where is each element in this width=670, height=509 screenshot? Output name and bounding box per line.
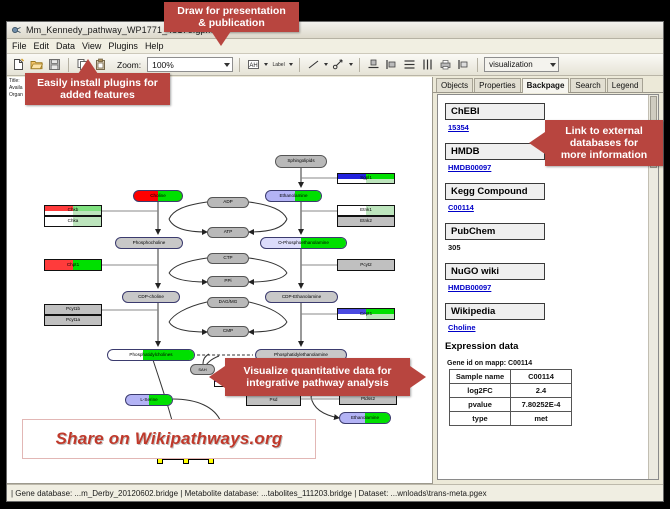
cell-value: 7.80252E-4 (511, 398, 572, 412)
node-label: PPi (224, 279, 231, 284)
node-atp[interactable]: ATP (207, 227, 249, 238)
callout-line-1: Easily install plugins for (37, 77, 158, 89)
tab-objects[interactable]: Objects (436, 78, 473, 92)
node-label: Ethanolamine (279, 194, 307, 199)
node-label: Ethanolamine (351, 416, 379, 421)
label-tool-text: Label (272, 62, 284, 68)
node-choline[interactable]: Choline (133, 190, 183, 202)
text-label-dropdown-icon[interactable] (264, 63, 268, 66)
callout-line-1: Link to external (565, 125, 643, 137)
info-line-organism: Organ (9, 92, 23, 99)
backpage-header-chebi: ChEBI (445, 103, 545, 120)
node-l-serine-left[interactable]: L-Serine (125, 394, 173, 406)
node-label: Sgpl1 (360, 176, 372, 181)
line-tool-icon[interactable] (306, 57, 321, 72)
backpage-link-nugo[interactable]: HMDB00097 (448, 283, 658, 292)
gene-box-pcyt1b[interactable]: Pcyt1b (44, 304, 102, 315)
gene-box-etnk2[interactable]: Etnk2 (337, 216, 395, 227)
node-label: DAG/MG (219, 300, 238, 305)
callout-link-arrow-icon (529, 132, 545, 154)
node-sphingolipids[interactable]: Sphingolipids (275, 155, 327, 168)
node-label: ATP (224, 230, 233, 235)
table-row: type met (450, 412, 572, 426)
open-folder-icon[interactable] (29, 57, 44, 72)
callout-visualize-arrow-icon (209, 366, 225, 388)
distribute-horizontal-icon[interactable] (420, 57, 435, 72)
node-cmp[interactable]: CMP (207, 326, 249, 337)
node-adp[interactable]: ADP (207, 197, 249, 208)
backpage-header-nugo: NuGO wiki (445, 263, 545, 280)
toolbar-separator-5 (477, 58, 478, 72)
cell-value: 2.4 (511, 384, 572, 398)
tab-properties[interactable]: Properties (474, 78, 520, 92)
callout-line-1: Draw for presentation (177, 5, 286, 17)
info-line-availability: Availa (9, 85, 23, 92)
callout-line-3: more information (561, 149, 647, 161)
line-dropdown-icon[interactable] (324, 63, 328, 66)
cell-value: C00114 (511, 370, 572, 384)
title-bar: Mm_Kennedy_pathway_WP1771_45176.gpml (7, 22, 663, 39)
cell-key: type (450, 412, 511, 426)
expression-data-table: Sample name C00114 log2FC 2.4 pvalue 7.8… (449, 369, 572, 426)
gene-box-chpt1[interactable]: Chpt1 (44, 259, 102, 271)
toolbar-separator-1 (68, 58, 69, 72)
callout-visualize-arrow-right-icon (410, 366, 426, 388)
zoom-value: 100% (152, 60, 174, 70)
callout-line-2: added features (60, 89, 135, 101)
backpage-header-kegg: Kegg Compound (445, 183, 545, 200)
cell-key: log2FC (450, 384, 511, 398)
distribute-vertical-icon[interactable] (402, 57, 417, 72)
toolbar-separator-2 (239, 58, 240, 72)
callout-line-2: & publication (198, 17, 265, 29)
node-label: L-Serine (140, 398, 157, 403)
canvas-info-labels: Title: Availa Organ (9, 78, 23, 99)
table-row: pvalue 7.80252E-4 (450, 398, 572, 412)
callout-line-2: integrative pathway analysis (246, 377, 388, 389)
node-phosphatidylcholines[interactable]: Phosphatidylcholines (107, 349, 195, 361)
node-label: ADP (223, 200, 232, 205)
zoom-combobox[interactable]: 100% (147, 57, 233, 72)
node-ethanolamine-2[interactable]: Ethanolamine (339, 412, 391, 424)
screenshot-root: Mm_Kennedy_pathway_WP1771_45176.gpml Fil… (0, 0, 670, 509)
save-icon[interactable] (47, 57, 62, 72)
menu-item-plugins[interactable]: Plugins (108, 41, 138, 51)
label-dropdown-icon[interactable] (289, 63, 293, 66)
label-tool-icon[interactable]: Label (271, 57, 286, 72)
status-text: | Gene database: ...m_Derby_20120602.bri… (11, 489, 487, 498)
callout-easily-install-plugins: Easily install plugins for added feature… (25, 73, 170, 105)
menu-item-file[interactable]: File (12, 41, 27, 51)
status-bar: | Gene database: ...m_Derby_20120602.bri… (7, 484, 663, 501)
node-label: Etnk2 (360, 219, 372, 224)
node-label: O-Phosphoethanolamine (278, 241, 329, 246)
gene-box-chka[interactable]: Chka (44, 216, 102, 227)
backpage-link-wikipedia[interactable]: Choline (448, 323, 658, 332)
node-o-phosphoethanolamine[interactable]: O-Phosphoethanolamine (260, 237, 347, 249)
text-label-icon[interactable]: AH (246, 57, 261, 72)
callout-share-on-wikipathways: Share on Wikipathways.org (22, 419, 316, 459)
node-label: Ptdss2 (361, 397, 375, 402)
toolbar-separator-3 (299, 58, 300, 72)
table-row: Sample name C00114 (450, 370, 572, 384)
node-label: SAH (198, 368, 206, 372)
gene-box-chkb[interactable]: Chkb (44, 205, 102, 216)
node-label: Pcyt1b (66, 307, 80, 312)
align-bottom-icon[interactable] (366, 57, 381, 72)
new-document-icon[interactable] (11, 57, 26, 72)
node-ethanolamine[interactable]: Ethanolamine (265, 190, 322, 202)
node-label: Pcyt2 (360, 263, 372, 268)
node-phosphocholine[interactable]: Phosphocholine (115, 237, 183, 249)
node-ctp[interactable]: CTP (207, 253, 249, 264)
table-row: log2FC 2.4 (450, 384, 572, 398)
node-label: Chpt1 (67, 263, 79, 268)
node-label: CDP-Ethanolamine (282, 295, 321, 300)
cell-key: pvalue (450, 398, 511, 412)
svg-text:AH: AH (249, 63, 257, 69)
gene-id-note: Gene id on mapp: C00114 (447, 360, 658, 367)
callout-draw-for-presentation: Draw for presentation & publication (164, 2, 299, 32)
node-label: Sphingolipids (287, 159, 314, 164)
align-left-icon[interactable] (384, 57, 399, 72)
cell-key: Sample name (450, 370, 511, 384)
gene-box-sgpl1[interactable]: Sgpl1 (337, 173, 395, 184)
backpage-header-pubchem: PubChem (445, 223, 545, 240)
node-dag-mg[interactable]: DAG/MG (207, 297, 249, 308)
menu-item-view[interactable]: View (82, 41, 101, 51)
node-label: Cept1 (360, 312, 372, 317)
node-label: Pcyt1a (66, 318, 80, 323)
cell-value: met (511, 412, 572, 426)
gene-box-pcyt2[interactable]: Pcyt2 (337, 259, 395, 271)
gene-box-pcyt1a[interactable]: Pcyt1a (44, 315, 102, 326)
backpage-value-pubchem: 305 (448, 243, 658, 252)
zoom-label: Zoom: (117, 60, 141, 70)
menu-item-data[interactable]: Data (56, 41, 75, 51)
callout-plugins-arrow-icon (78, 59, 98, 74)
tab-legend[interactable]: Legend (607, 78, 644, 92)
node-label: CMP (223, 329, 233, 334)
node-label: CTP (223, 256, 232, 261)
node-label: Choline (150, 194, 166, 199)
print-icon[interactable] (438, 57, 453, 72)
node-cdp-choline[interactable]: CDP-choline (122, 291, 180, 303)
node-label: Chka (68, 219, 79, 224)
menu-bar[interactable]: File Edit Data View Plugins Help (7, 39, 663, 54)
info-line-title: Title: (9, 78, 23, 85)
node-label: Etnk1 (360, 208, 372, 213)
node-label: Phosphatidylcholines (129, 353, 172, 358)
side-panel-tabs[interactable]: Objects Properties Backpage Search Legen… (433, 77, 663, 93)
node-label: CDP-choline (138, 295, 164, 300)
callout-visualize-quantitative-data: Visualize quantitative data for integrat… (225, 358, 410, 396)
backpage-link-kegg[interactable]: C00114 (448, 203, 658, 212)
node-ppi[interactable]: PPi (207, 276, 249, 287)
node-label: Phosphocholine (133, 241, 166, 246)
tab-search[interactable]: Search (570, 78, 605, 92)
gene-box-etnk1[interactable]: Etnk1 (337, 205, 395, 216)
backpage-header-wikipedia: Wikipedia (445, 303, 545, 320)
callout-line-2: databases for (570, 137, 638, 149)
node-cdp-ethanolamine[interactable]: CDP-Ethanolamine (265, 291, 338, 303)
visualization-chevron-down-icon[interactable] (550, 63, 556, 67)
menu-item-help[interactable]: Help (145, 41, 164, 51)
share-text: Share on Wikipathways.org (56, 429, 283, 449)
node-label: Psd (270, 398, 278, 403)
toolbar-separator-4 (359, 58, 360, 72)
visualization-value: visualization (489, 60, 533, 69)
app-icon (11, 25, 22, 36)
receptor-tool-icon[interactable] (331, 57, 346, 72)
visualization-combobox[interactable]: visualization (484, 57, 559, 72)
callout-line-1: Visualize quantitative data for (243, 365, 391, 377)
tab-backpage[interactable]: Backpage (522, 78, 570, 93)
menu-item-edit[interactable]: Edit (34, 41, 50, 51)
expression-data-title: Expression data (445, 341, 658, 352)
receptor-dropdown-icon[interactable] (349, 63, 353, 66)
callout-link-to-external-databases: Link to external databases for more info… (545, 120, 663, 166)
node-label: Chkb (68, 208, 79, 213)
gene-box-cept1[interactable]: Cept1 (337, 308, 395, 320)
node-label: Phosphatidylethanolamine (274, 353, 328, 358)
chevron-down-icon[interactable] (224, 63, 230, 67)
callout-draw-arrow-icon (211, 31, 231, 46)
bring-front-icon[interactable] (456, 57, 471, 72)
